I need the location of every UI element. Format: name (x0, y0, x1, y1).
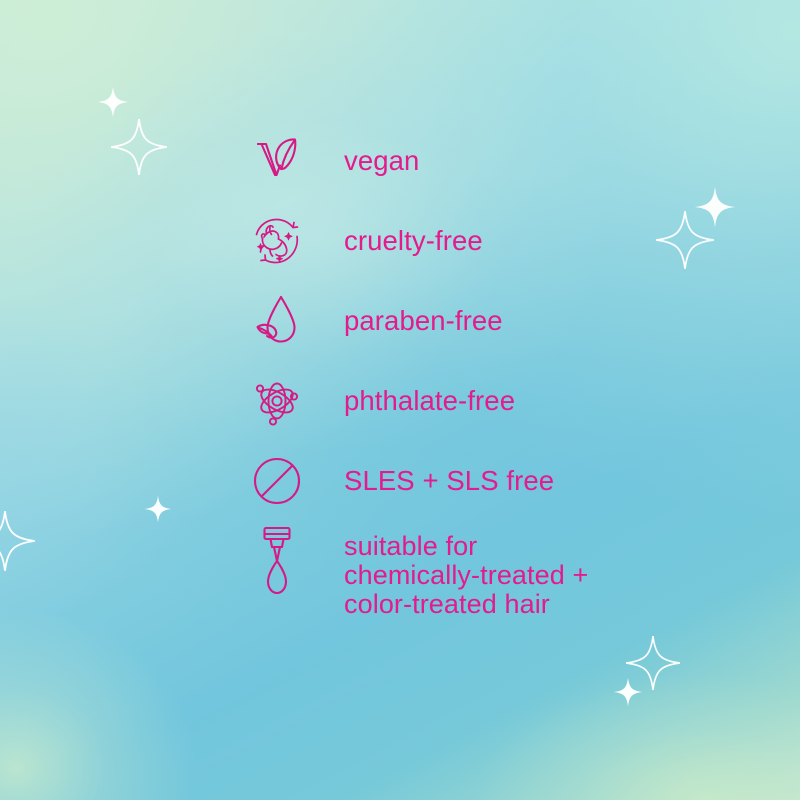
leaf-v-icon (248, 132, 306, 190)
claims-list: vegan (248, 132, 718, 619)
claim-label-phthalate-free: phthalate-free (306, 387, 718, 416)
dropper-droplet-icon (248, 534, 306, 592)
sparkle-top-left-large-icon (110, 116, 168, 178)
claim-item-paraben-free: paraben-free (248, 292, 718, 350)
claim-item-vegan: vegan (248, 132, 718, 190)
claim-label-chem-treated: suitable for chemically-treated + color-… (306, 532, 718, 619)
claim-label-vegan: vegan (306, 147, 718, 176)
sparkle-bottom-right-small-icon (613, 676, 643, 708)
claim-item-chem-treated: suitable for chemically-treated + color-… (248, 532, 718, 619)
atom-icon (248, 372, 306, 430)
claim-item-cruelty-free: cruelty-free (248, 212, 718, 270)
claim-label-cruelty-free: cruelty-free (306, 227, 718, 256)
sparkle-left-small-filled-icon (144, 494, 172, 524)
sparkle-top-left-small-icon (97, 86, 129, 118)
claim-label-paraben-free: paraben-free (306, 307, 718, 336)
claim-item-phthalate-free: phthalate-free (248, 372, 718, 430)
sparkle-left-edge-outline-icon (0, 505, 36, 577)
claim-label-sles-sls-free: SLES + SLS free (306, 467, 718, 496)
prohibition-circle-icon (248, 452, 306, 510)
leaping-bunny-icon (248, 212, 306, 270)
claim-item-sles-sls-free: SLES + SLS free (248, 452, 718, 510)
droplet-leaf-icon (248, 292, 306, 350)
claims-panel: vegan (0, 0, 800, 800)
sparkle-bottom-right-outline-icon (625, 632, 681, 694)
